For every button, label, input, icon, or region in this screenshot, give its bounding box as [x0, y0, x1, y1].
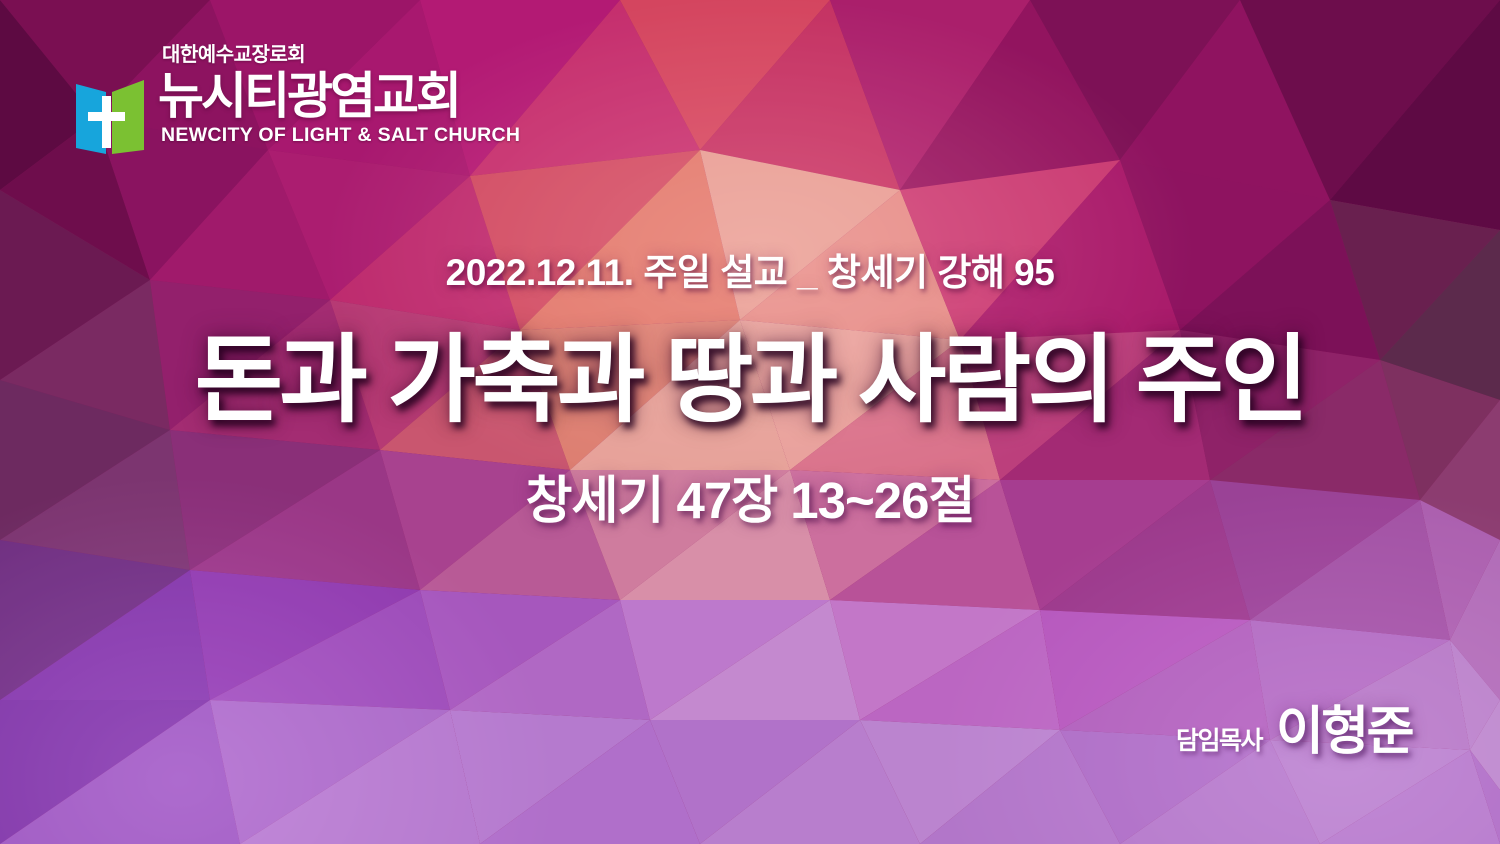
sermon-title-slide: 대한예수교장로회 뉴시티광염교회 NEWCITY OF LIGHT & SALT… — [0, 0, 1500, 844]
preacher-role: 담임목사 — [1176, 721, 1262, 757]
sermon-title: 돈과 가축과 땅과 사람의 주인 — [0, 330, 1500, 432]
preacher-credit: 담임목사 이형준 — [1176, 689, 1412, 764]
sermon-info: 2022.12.11. 주일 설교 _ 창세기 강해 95 돈과 가축과 땅과 … — [0, 250, 1500, 531]
sermon-series-line: 2022.12.11. 주일 설교 _ 창세기 강해 95 — [0, 250, 1500, 296]
open-door-cross-icon — [72, 72, 148, 164]
preacher-name: 이형준 — [1276, 689, 1412, 764]
logo-church-name-en: NEWCITY OF LIGHT & SALT CHURCH — [161, 125, 520, 146]
church-logo: 대한예수교장로회 뉴시티광염교회 NEWCITY OF LIGHT & SALT… — [72, 44, 520, 164]
logo-church-name-ko: 뉴시티광염교회 — [158, 68, 459, 124]
logo-denomination: 대한예수교장로회 — [162, 44, 305, 66]
sermon-scripture-reference: 창세기 47장 13~26절 — [0, 470, 1500, 531]
